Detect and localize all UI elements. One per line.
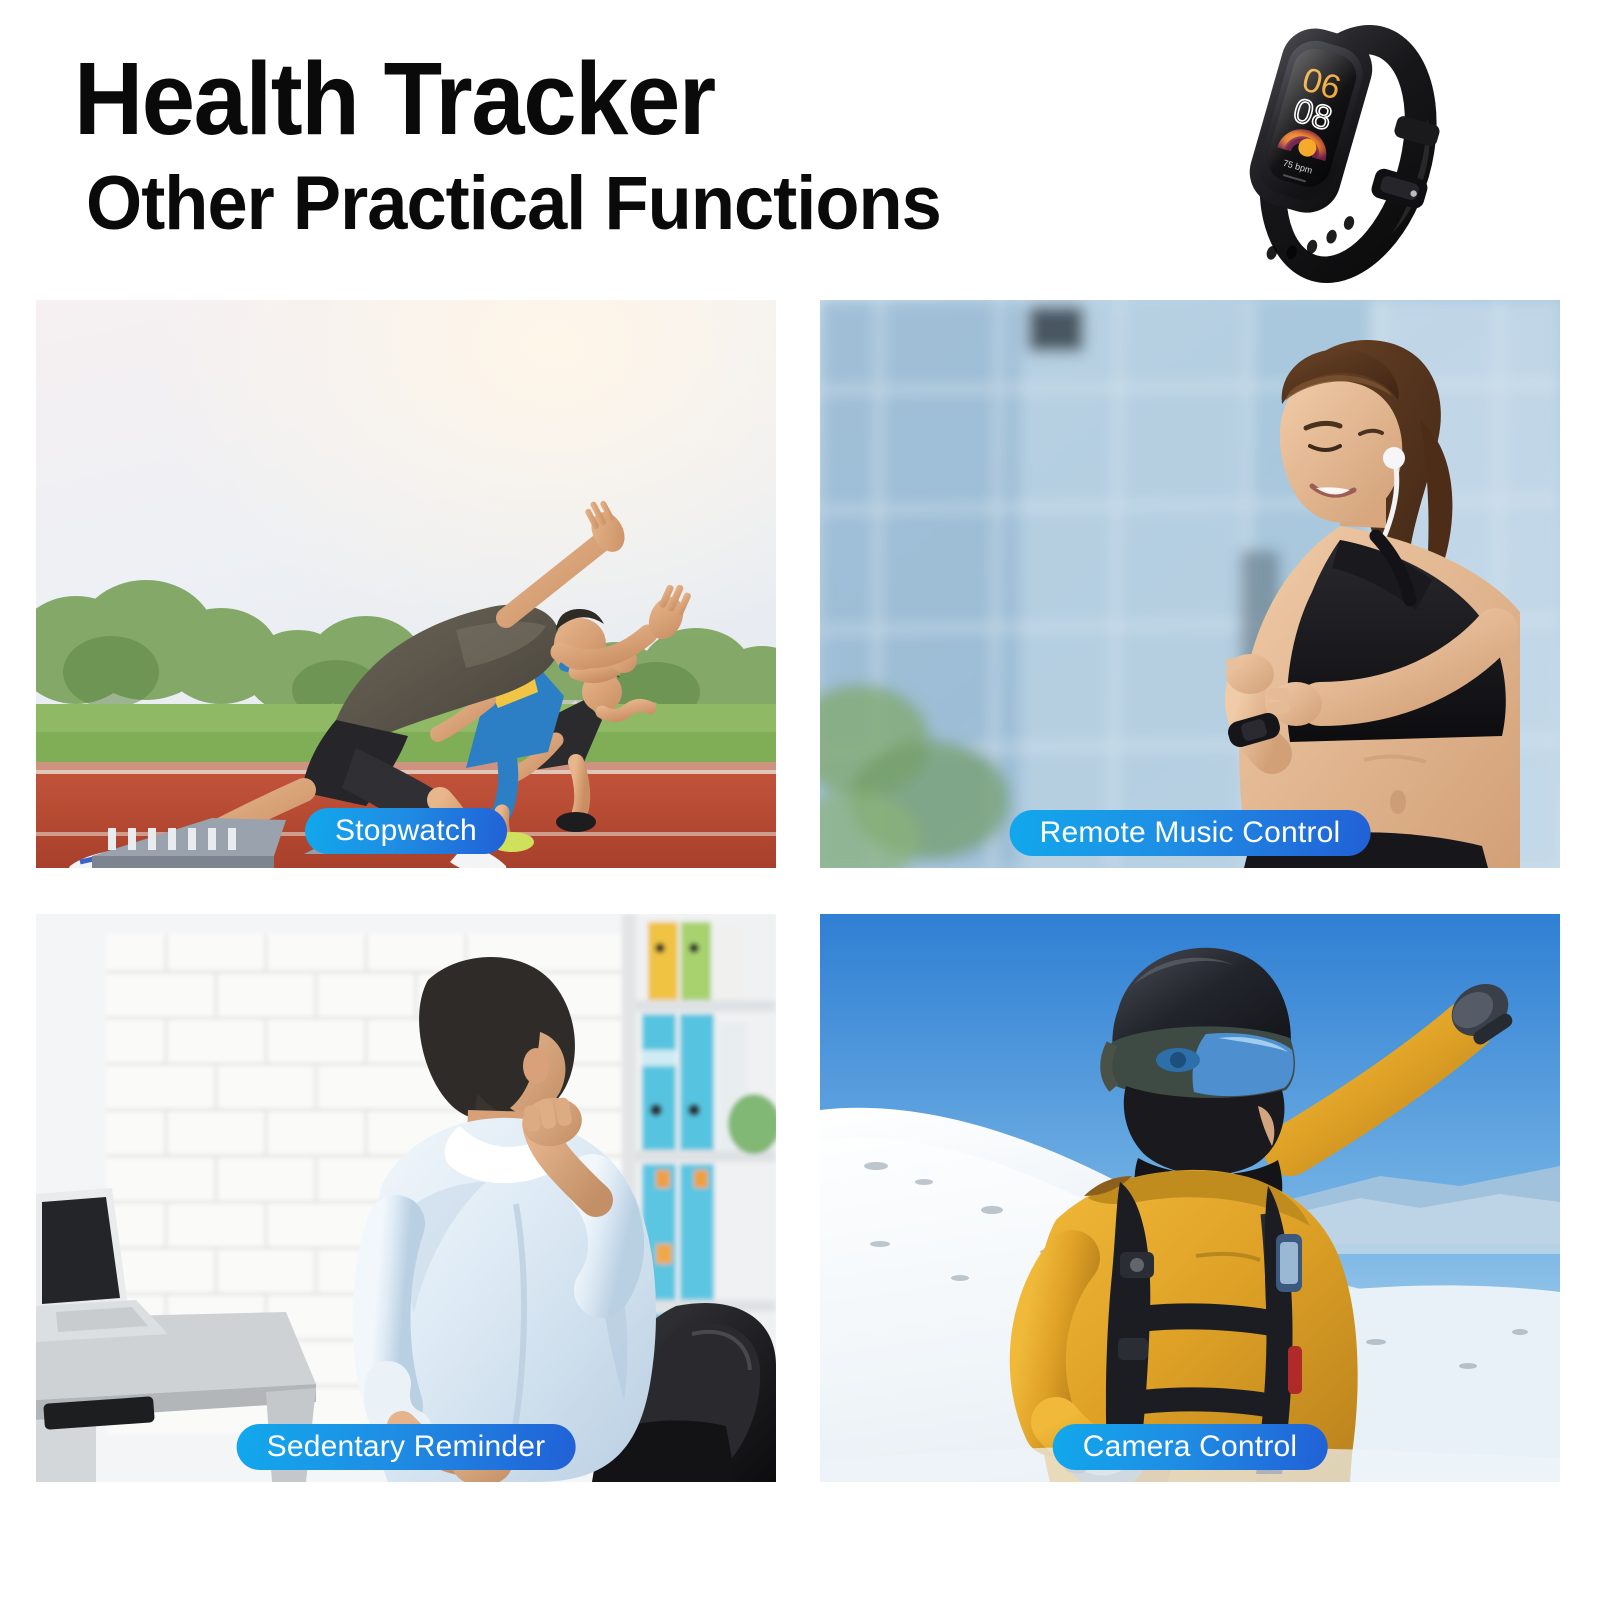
panel-caption-stopwatch: Stopwatch [305,808,507,854]
feature-grid: Stopwatch [36,300,1560,1522]
header-block: Health Tracker Other Practical Functions [74,46,1134,249]
panel-caption-camera-control: Camera Control [1053,1424,1328,1470]
feature-panel-sedentary-reminder[interactable]: Sedentary Reminder [36,914,776,1482]
panel-caption-sedentary-reminder: Sedentary Reminder [237,1424,576,1470]
page-title: Health Tracker [74,46,1060,151]
page-subtitle: Other Practical Functions [86,159,1082,249]
feature-panel-stopwatch[interactable]: Stopwatch [36,300,776,868]
fitness-band-image: 06 08 75 bpm [1218,6,1478,302]
panel-caption-remote-music-control: Remote Music Control [1010,810,1371,856]
feature-panel-remote-music-control[interactable]: Remote Music Control [820,300,1560,868]
feature-panel-camera-control[interactable]: Camera Control [820,914,1560,1482]
